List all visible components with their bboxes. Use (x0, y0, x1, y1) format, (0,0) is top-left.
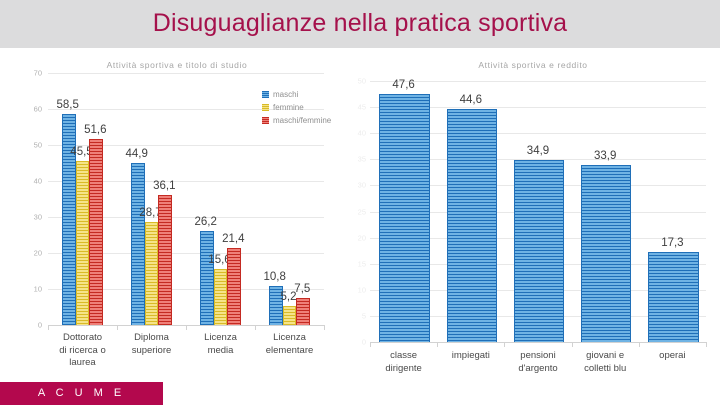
y-axis-tick-label: 50 (20, 141, 42, 150)
bar (514, 160, 564, 342)
y-axis-tick-label: 10 (344, 285, 366, 294)
x-axis-tick (48, 325, 49, 330)
legend-item[interactable]: maschi/femmine (262, 115, 331, 125)
bar (283, 306, 297, 325)
bar-value-label: 34,9 (527, 145, 549, 157)
legend-swatch-icon (262, 117, 269, 124)
bar (76, 161, 90, 325)
chart-right-plot-area: 0510152025303540455047,6classe dirigente… (370, 81, 706, 342)
legend-item[interactable]: femmine (262, 102, 331, 112)
page-title: Disuguaglianze nella pratica sportiva (0, 9, 720, 38)
bar-value-label: 26,2 (194, 216, 216, 228)
bar (158, 195, 172, 325)
chart-left-legend: maschifemminemaschi/femmine (262, 89, 331, 128)
y-axis-tick-label: 15 (344, 259, 366, 268)
x-axis-tick (186, 325, 187, 330)
x-axis-tick (504, 342, 505, 347)
bar-value-label: 36,1 (153, 180, 175, 192)
y-axis-tick-label: 35 (344, 155, 366, 164)
bar-value-label: 44,9 (125, 148, 147, 160)
y-axis-tick-label: 20 (20, 249, 42, 258)
acume-logo-text: A C U M E (0, 382, 163, 405)
acume-logo-bar: A C U M E (0, 382, 163, 405)
y-axis-tick-label: 50 (344, 77, 366, 86)
y-axis-tick-label: 30 (344, 181, 366, 190)
bar-value-label: 33,9 (594, 150, 616, 162)
bar-value-label: 51,6 (84, 124, 106, 136)
x-axis-tick (437, 342, 438, 347)
legend-swatch-icon (262, 104, 269, 111)
y-axis-tick-label: 30 (20, 213, 42, 222)
bar (296, 298, 310, 325)
bar-value-label: 17,3 (661, 237, 683, 249)
x-axis-category-label: Licenza elementare (248, 332, 331, 357)
bar (227, 248, 241, 325)
y-axis-tick-label: 70 (20, 69, 42, 78)
bar-value-label: 10,8 (263, 271, 285, 283)
bar (89, 139, 103, 325)
bar-value-label: 21,4 (222, 233, 244, 245)
bar-value-label: 7,5 (294, 283, 310, 295)
bar (379, 94, 429, 342)
y-axis-tick-label: 0 (20, 321, 42, 330)
bar (447, 109, 497, 342)
bar (581, 165, 631, 342)
y-axis-tick-label: 45 (344, 103, 366, 112)
legend-label: maschi/femmine (273, 116, 331, 125)
x-axis-tick (117, 325, 118, 330)
y-axis-tick-label: 60 (20, 105, 42, 114)
y-axis-tick-label: 0 (344, 338, 366, 347)
bar-value-label: 58,5 (56, 99, 78, 111)
gridline (370, 81, 706, 82)
y-axis-tick-label: 25 (344, 207, 366, 216)
y-axis-tick-label: 5 (344, 311, 366, 320)
bar (648, 252, 698, 342)
bar-value-label: 44,6 (460, 94, 482, 106)
legend-label: femmine (273, 103, 304, 112)
bar (214, 269, 228, 325)
chart-left-title: Attività sportiva e titolo di studio (12, 60, 342, 70)
legend-label: maschi (273, 90, 298, 99)
gridline (48, 73, 324, 74)
bar-value-label: 47,6 (392, 79, 414, 91)
x-axis-tick (706, 342, 707, 347)
x-axis-tick (572, 342, 573, 347)
legend-swatch-icon (262, 91, 269, 98)
chart-right-title: Attività sportiva e reddito (352, 60, 714, 70)
bar (200, 231, 214, 325)
y-axis-tick-label: 40 (20, 177, 42, 186)
x-axis-line (370, 342, 706, 343)
x-axis-tick (370, 342, 371, 347)
x-axis-tick (255, 325, 256, 330)
bar (131, 163, 145, 325)
bar (145, 222, 159, 325)
x-axis-tick (639, 342, 640, 347)
y-axis-tick-label: 10 (20, 285, 42, 294)
y-axis-tick-label: 40 (344, 129, 366, 138)
x-axis-category-label: operai (632, 350, 713, 363)
chart-activity-by-education: Attività sportiva e titolo di studio 010… (12, 60, 342, 390)
legend-item[interactable]: maschi (262, 89, 331, 99)
x-axis-tick (324, 325, 325, 330)
y-axis-tick-label: 20 (344, 233, 366, 242)
chart-activity-by-income: Attività sportiva e reddito 051015202530… (352, 60, 714, 390)
